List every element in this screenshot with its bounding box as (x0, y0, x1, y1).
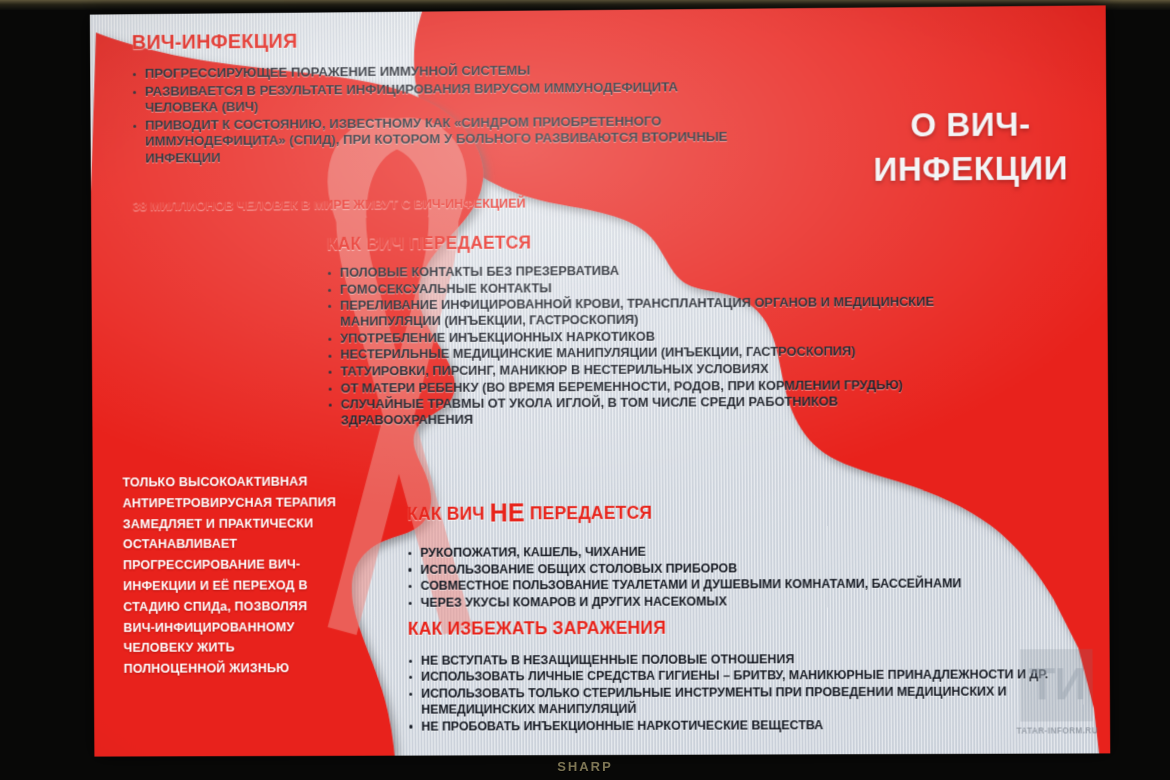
list-item: ПЕРЕЛИВАНИЕ ИНФИЦИРОВАННОЙ КРОВИ, ТРАНСП… (327, 294, 968, 330)
list-non-transmission-routes: РУКОПОЖАТИЯ, КАШЕЛЬ, ЧИХАНИЕ ИСПОЛЬЗОВАН… (407, 542, 1049, 611)
list-item: ИСПОЛЬЗОВАТЬ ТОЛЬКО СТЕРИЛЬНЫЕ ИНСТРУМЕН… (408, 683, 1110, 718)
section-hiv-infection: ВИЧ-ИНФЕКЦИЯ ПРОГРЕССИРУЮЩЕЕ ПОРАЖЕНИЕ И… (132, 27, 731, 168)
section-how-to-avoid-infection: КАК ИЗБЕЖАТЬ ЗАРАЖЕНИЯ НЕ ВСТУПАТЬ В НЕЗ… (408, 616, 1110, 735)
photographed-monitor: ВИЧ-ИНФЕКЦИЯ ПРОГРЕССИРУЮЩЕЕ ПОРАЖЕНИЕ И… (0, 0, 1170, 780)
heading-not-transmission-part1: КАК ВИЧ (407, 504, 490, 524)
list-prevention-measures: НЕ ВСТУПАТЬ В НЕЗАЩИЩЕННЫЕ ПОЛОВЫЕ ОТНОШ… (408, 650, 1110, 735)
monitor-brand-label: SHARP (0, 754, 1170, 780)
section-how-hiv-is-not-transmitted: КАК ВИЧ НЕ ПЕРЕДАЕТСЯ РУКОПОЖАТИЯ, КАШЕЛ… (407, 497, 1049, 612)
heading-transmission: КАК ВИЧ ПЕРЕДАЕТСЯ (327, 229, 967, 255)
paragraph-antiretroviral-therapy: ТОЛЬКО ВЫСОКОАКТИВНАЯ АНТИРЕТРОВИРУСНАЯ … (122, 471, 337, 679)
statistic-hiv-worldwide: 38 МИЛЛИОНОВ ЧЕЛОВЕК В МИРЕ ЖИВУТ С ВИЧ-… (133, 195, 731, 214)
heading-not-transmission: КАК ВИЧ НЕ ПЕРЕДАЕТСЯ (407, 497, 1048, 529)
heading-not-transmission-emphasis: НЕ (490, 499, 525, 527)
slide-title-line-1: О ВИЧ- (845, 102, 1097, 148)
slide-title: О ВИЧ- ИНФЕКЦИИ (845, 102, 1097, 192)
section-how-hiv-is-transmitted: КАК ВИЧ ПЕРЕДАЕТСЯ ПОЛОВЫЕ КОНТАКТЫ БЕЗ … (327, 229, 969, 429)
list-transmission-routes: ПОЛОВЫЕ КОНТАКТЫ БЕЗ ПРЕЗЕРВАТИВА ГОМОСЕ… (327, 260, 968, 429)
heading-not-transmission-part2: ПЕРЕДАЕТСЯ (525, 503, 652, 524)
list-item: ЧЕРЕЗ УКУСЫ КОМАРОВ И ДРУГИХ НАСЕКОМЫХ (408, 592, 1049, 611)
heading-avoid-infection: КАК ИЗБЕЖАТЬ ЗАРАЖЕНИЯ (408, 616, 1110, 640)
heading-hiv-infection: ВИЧ-ИНФЕКЦИЯ (132, 27, 730, 55)
list-item: НЕ ПРОБОВАТЬ ИНЪЕКЦИОННЫЕ НАРКОТИЧЕСКИЕ … (408, 716, 1110, 735)
watermark: ТИ TATAR-INFORM.RU (1016, 649, 1098, 736)
slide-title-line-2: ИНФЕКЦИИ (845, 146, 1097, 192)
presentation-slide: ВИЧ-ИНФЕКЦИЯ ПРОГРЕССИРУЮЩЕЕ ПОРАЖЕНИЕ И… (90, 5, 1110, 756)
list-item: ПРИВОДИТ К СОСТОЯНИЮ, ИЗВЕСТНОМУ КАК «СИ… (132, 113, 731, 168)
list-hiv-facts: ПРОГРЕССИРУЮЩЕЕ ПОРАЖЕНИЕ ИММУННОЙ СИСТЕ… (132, 61, 731, 167)
list-item: СЛУЧАЙНЫЕ ТРАВМЫ ОТ УКОЛА ИГЛОЙ, В ТОМ Ч… (328, 393, 969, 429)
tatar-inform-logo-icon: ТИ (1020, 649, 1093, 722)
watermark-logo-text: ТИ (1020, 649, 1093, 722)
list-item: РАЗВИВАЕТСЯ В РЕЗУЛЬТАТЕ ИНФИЦИРОВАНИЯ В… (132, 78, 730, 116)
watermark-url: TATAR-INFORM.RU (1016, 726, 1098, 735)
